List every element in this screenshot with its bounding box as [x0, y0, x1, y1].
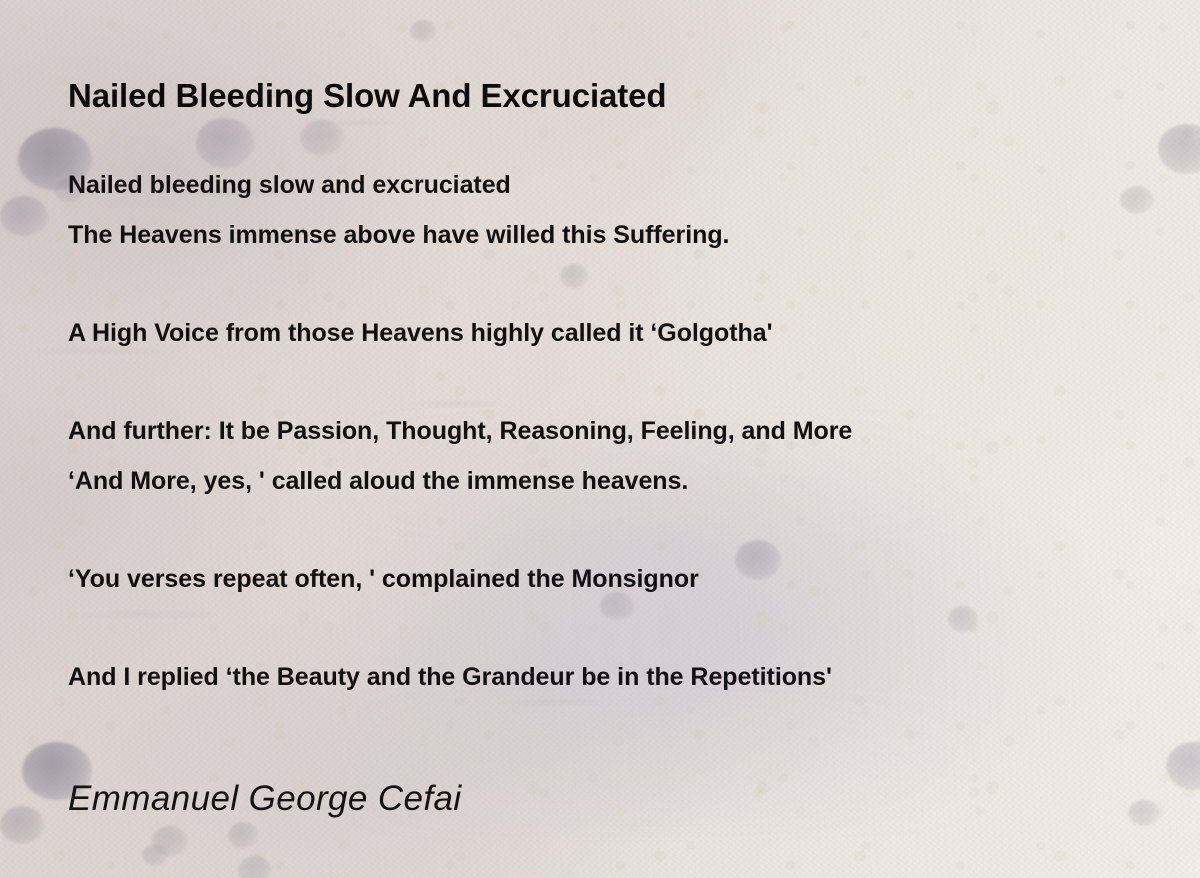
poem-line: Nailed bleeding slow and excruciated	[68, 160, 1158, 210]
page-title: Nailed Bleeding Slow And Excruciated	[68, 76, 666, 116]
poem-body: Nailed bleeding slow and excruciatedThe …	[68, 160, 1158, 750]
poem-page: Nailed Bleeding Slow And Excruciated Nai…	[0, 0, 1200, 878]
poem-stanza: And further: It be Passion, Thought, Rea…	[68, 406, 1158, 506]
poem-line: A High Voice from those Heavens highly c…	[68, 308, 1158, 358]
author-signature: Emmanuel George Cefai	[68, 776, 462, 822]
ink-blot	[1158, 124, 1200, 174]
ink-blot	[1166, 742, 1200, 790]
ink-blot	[0, 196, 48, 236]
poem-line: The Heavens immense above have willed th…	[68, 210, 1158, 260]
poem-line: And I replied ‘the Beauty and the Grande…	[68, 652, 1158, 702]
poem-line: ‘And More, yes, ' called aloud the immen…	[68, 456, 1158, 506]
poem-content: Nailed Bleeding Slow And Excruciated Nai…	[68, 0, 1158, 878]
poem-stanza: A High Voice from those Heavens highly c…	[68, 308, 1158, 358]
poem-line: And further: It be Passion, Thought, Rea…	[68, 406, 1158, 456]
poem-stanza: ‘You verses repeat often, ' complained t…	[68, 554, 1158, 604]
poem-stanza: And I replied ‘the Beauty and the Grande…	[68, 652, 1158, 702]
ink-blot	[0, 806, 44, 844]
poem-line: ‘You verses repeat often, ' complained t…	[68, 554, 1158, 604]
poem-stanza: Nailed bleeding slow and excruciatedThe …	[68, 160, 1158, 260]
